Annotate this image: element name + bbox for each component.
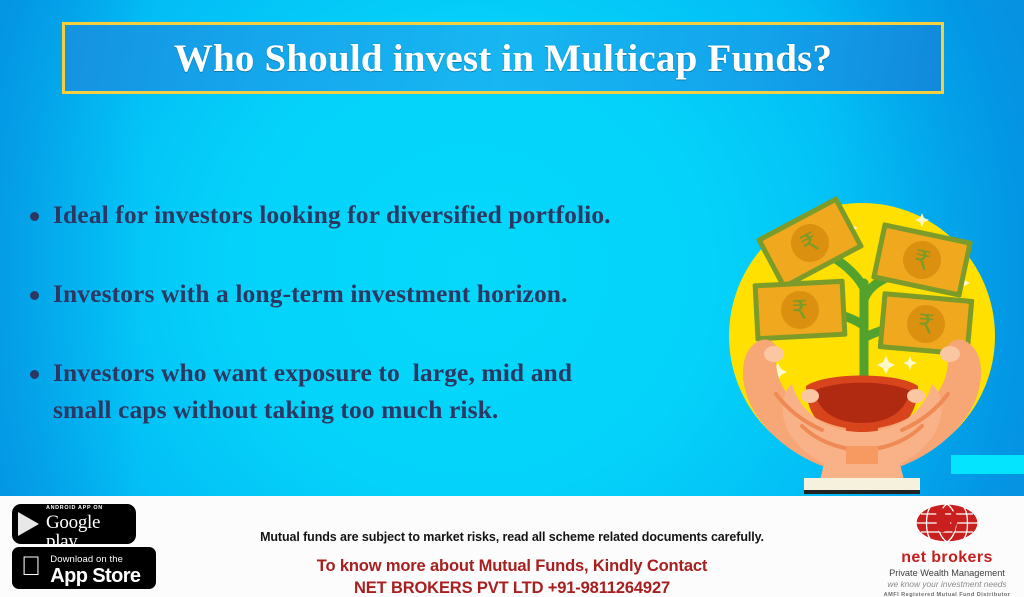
bullet-text: Ideal for investors looking for diversif…	[53, 196, 611, 233]
google-play-top-label: ANDROID APP ON	[46, 505, 103, 511]
logo-name: net brokers	[878, 549, 1016, 567]
globe-icon	[915, 503, 979, 543]
bullet-dot-icon	[30, 370, 39, 379]
bullet-text: Investors who want exposure to large, mi…	[53, 354, 572, 428]
net-brokers-logo: net brokers Private Wealth Management we…	[878, 503, 1016, 589]
logo-tagline-2: we know your investment needs	[878, 579, 1016, 589]
google-play-label: Google play	[46, 512, 100, 544]
app-store-label: App Store	[50, 565, 140, 587]
money-plant-illustration: ₹ ₹ ₹	[718, 188, 1006, 496]
disclaimer-text: Mutual funds are subject to market risks…	[0, 530, 1024, 544]
bullet-dot-icon	[30, 291, 39, 300]
logo-tagline-3: AMFI Registered Mutual Fund Distributor	[878, 592, 1016, 597]
svg-text:₹: ₹	[916, 309, 935, 339]
list-item: Ideal for investors looking for diversif…	[26, 196, 726, 233]
app-store-top-label: Download on the	[50, 554, 123, 565]
apple-icon: 	[21, 553, 41, 580]
bullet-dot-icon	[30, 212, 39, 221]
rupee-banknote-icon: ₹	[753, 279, 848, 342]
bullet-text: Investors with a long-term investment ho…	[53, 275, 568, 312]
poster: Who Should invest in Multicap Funds? Ide…	[0, 0, 1024, 597]
logo-tagline-1: Private Wealth Management	[878, 568, 1016, 578]
google-play-badge[interactable]: ANDROID APP ON Google play	[12, 504, 136, 544]
list-item: Investors who want exposure to large, mi…	[26, 354, 726, 428]
page-title: Who Should invest in Multicap Funds?	[174, 36, 833, 81]
app-store-badge[interactable]:  Download on the App Store	[12, 547, 156, 589]
bullet-list: Ideal for investors looking for diversif…	[26, 196, 726, 470]
svg-text:₹: ₹	[791, 296, 809, 326]
title-banner: Who Should invest in Multicap Funds?	[62, 22, 944, 94]
base-bar	[804, 478, 920, 492]
list-item: Investors with a long-term investment ho…	[26, 275, 726, 312]
google-play-icon	[18, 512, 39, 536]
